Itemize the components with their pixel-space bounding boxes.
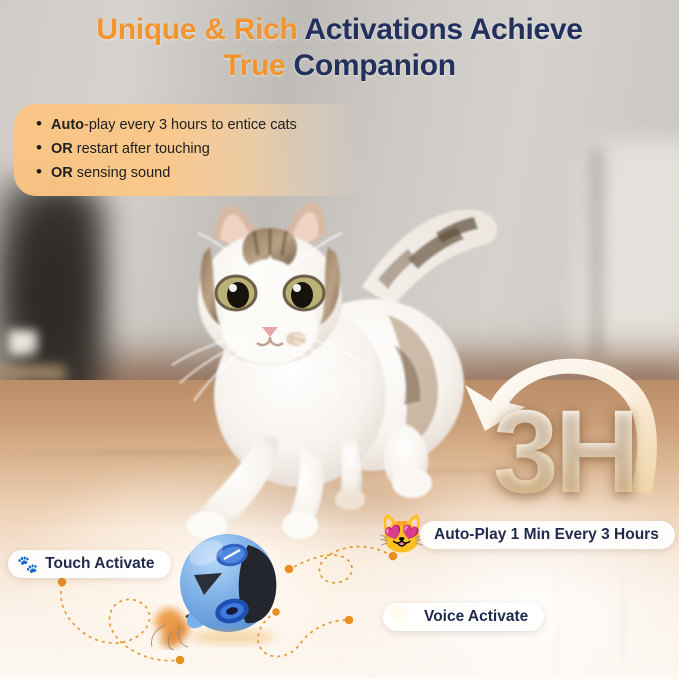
cat-heart-eyes-icon: 😻 — [378, 516, 425, 554]
badge-touch-activate: 🐾 Touch Activate — [8, 550, 171, 578]
badge-voice-activate: Voice Activate — [383, 603, 544, 631]
background-appliance-edge — [593, 150, 601, 360]
headline-highlight-2: True — [223, 49, 293, 82]
paw-print-icon: 🐾 — [17, 556, 38, 573]
cat-ball-toy — [150, 525, 290, 650]
badge-auto-play: Auto-Play 1 Min Every 3 Hours — [420, 521, 675, 549]
auto-play-timer-badge: 3H — [455, 345, 679, 530]
feature-item: OR restart after touching — [36, 137, 348, 161]
product-infographic: 3H — [0, 0, 679, 679]
headline-highlight-1: Unique & Rich — [96, 13, 304, 46]
headline-line-2: True Companion — [0, 48, 679, 84]
page-title: Unique & Rich Activations Achieve True C… — [0, 12, 679, 84]
feature-item-text: sensing sound — [73, 165, 171, 181]
feature-item-strong: OR — [51, 165, 73, 181]
toy-shadow — [190, 629, 274, 645]
headline-rest-1: Activations Achieve — [304, 13, 582, 46]
feature-list: Auto-play every 3 hours to entice cats O… — [36, 113, 348, 185]
feature-item-strong: Auto — [51, 117, 84, 133]
badge-touch-activate-label: Touch Activate — [45, 555, 154, 573]
badge-auto-play-label: Auto-Play 1 Min Every 3 Hours — [434, 526, 659, 544]
feature-item-text: -play every 3 hours to entice cats — [84, 117, 297, 133]
timer-value: 3H — [493, 393, 636, 511]
feature-item-strong: OR — [51, 141, 73, 157]
feature-item: OR sensing sound — [36, 161, 348, 185]
background-appliance — [569, 140, 679, 370]
background-dark-furniture-edge — [60, 200, 120, 400]
cat-tail — [362, 210, 497, 307]
feature-item-text: restart after touching — [73, 141, 210, 157]
background-cup — [8, 330, 38, 356]
headline-rest-2: Companion — [293, 49, 455, 82]
badge-voice-activate-label: Voice Activate — [424, 608, 528, 626]
feature-list-panel: Auto-play every 3 hours to entice cats O… — [14, 104, 364, 196]
headline-line-1: Unique & Rich Activations Achieve — [0, 12, 679, 48]
toy-body — [180, 534, 276, 632]
feature-item: Auto-play every 3 hours to entice cats — [36, 113, 348, 137]
